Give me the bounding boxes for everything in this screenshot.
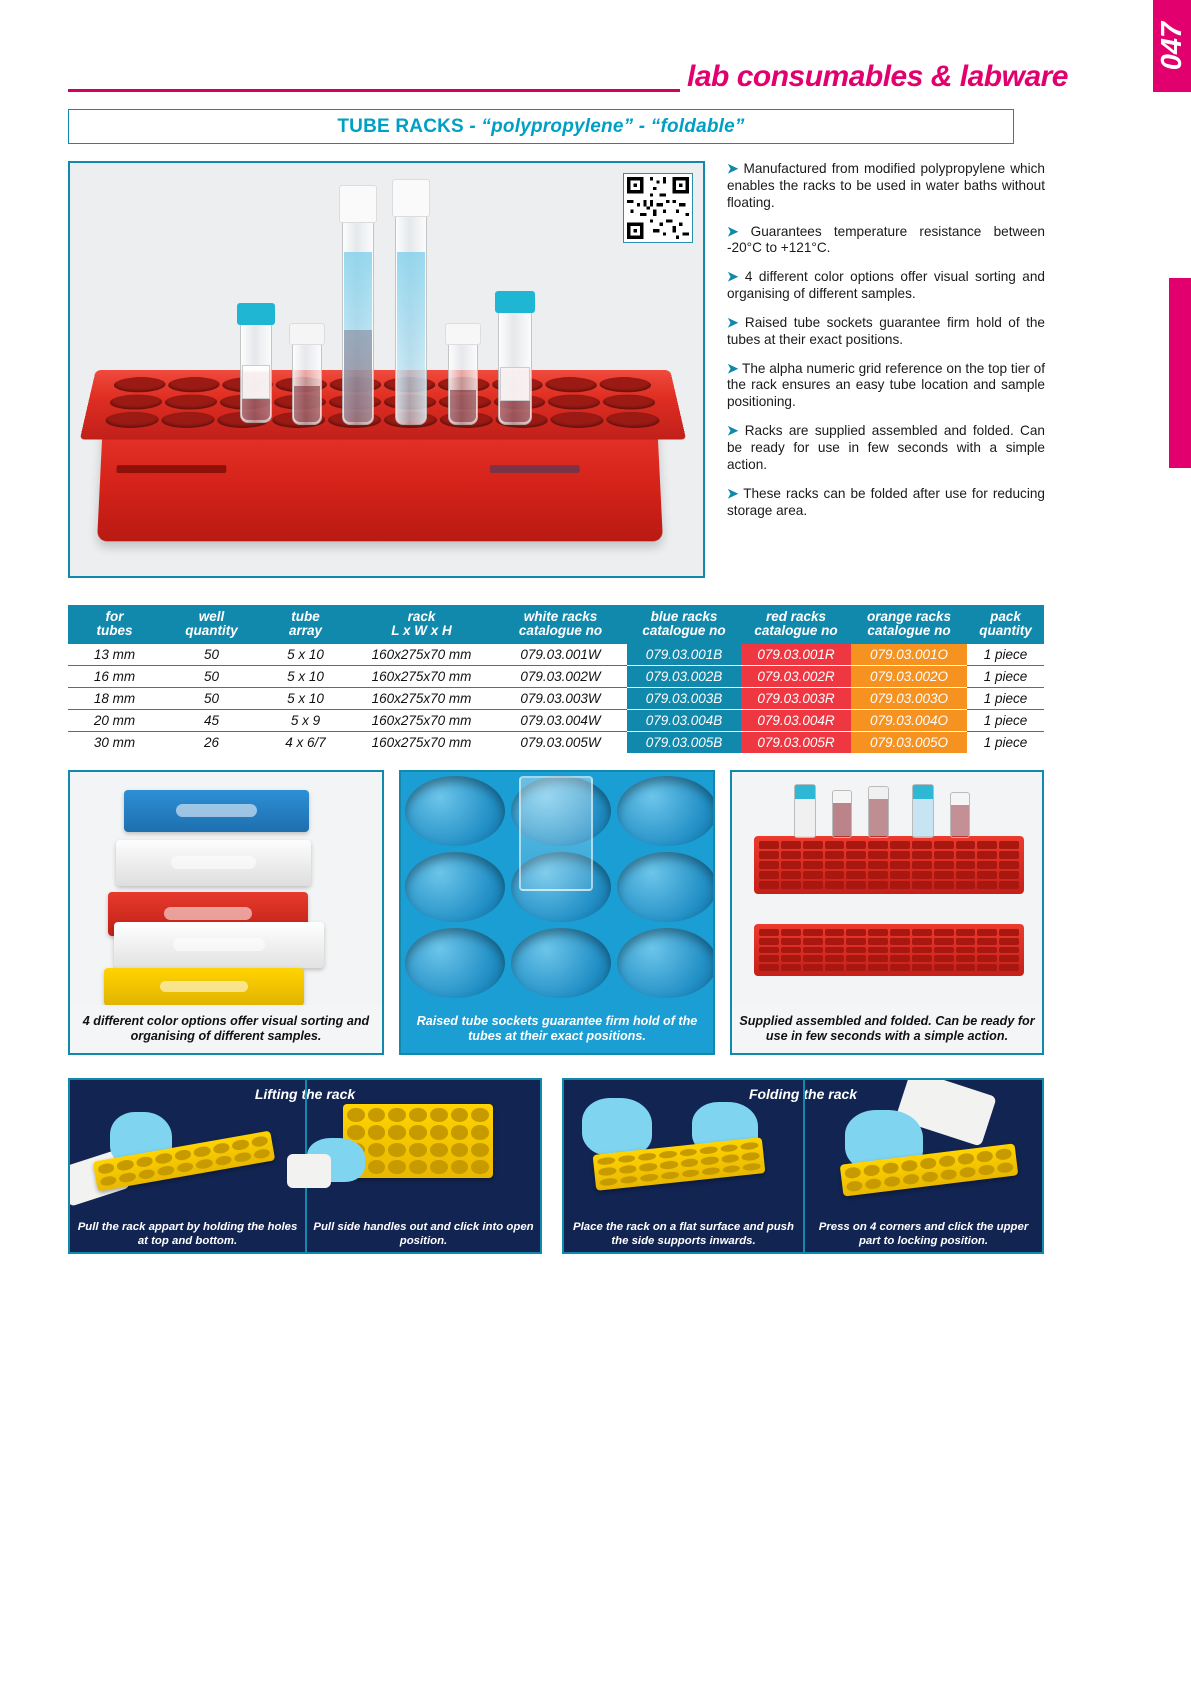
col-header-white-racks: white rackscatalogue no [494,605,627,644]
col-header-blue-racks: blue rackscatalogue no [627,605,741,644]
instruction-step-caption: Press on 4 corners and click the upper p… [809,1221,1038,1248]
cell-orange-catalogue-no: 079.03.005O [851,732,967,754]
arrow-icon: ➤ [727,161,738,176]
feature-panel-color-options: 4 different color options offer visual s… [68,770,384,1055]
cell-well-quantity: 26 [161,732,262,754]
instruction-step-caption: Pull the rack appart by holding the hole… [74,1221,301,1248]
gloved-hand-icon [582,1098,652,1156]
instruction-step: Press on 4 corners and click the upper p… [803,1080,1042,1252]
cell-blue-catalogue-no: 079.03.003B [627,688,741,710]
cell-tube-array: 5 x 10 [262,666,349,688]
cell-tube-array: 5 x 10 [262,688,349,710]
cell-blue-catalogue-no: 079.03.002B [627,666,741,688]
feature-panel-caption: 4 different color options offer visual s… [70,1005,382,1053]
cell-pack-quantity: 1 piece [967,710,1044,732]
cell-orange-catalogue-no: 079.03.002O [851,666,967,688]
bullet-item: ➤ Guarantees temperature resistance betw… [727,224,1045,258]
cell-rack-dimensions: 160x275x70 mm [349,732,494,754]
rack-well-grid [759,929,1019,971]
col-header-well-quantity: wellquantity [161,605,262,644]
cell-rack-dimensions: 160x275x70 mm [349,644,494,666]
col-header-rack-dimensions: rackL x W x H [349,605,494,644]
cell-blue-catalogue-no: 079.03.004B [627,710,741,732]
main-product-image [68,161,705,578]
bullet-item: ➤ Racks are supplied assembled and folde… [727,423,1045,474]
cell-rack-dimensions: 160x275x70 mm [349,688,494,710]
product-title-main: TUBE RACKS [337,116,464,137]
page-number: 047 [1153,0,1191,92]
page-number-tab: 047 [1153,0,1191,92]
arrow-icon: ➤ [727,224,738,239]
tube-specimen [292,343,322,425]
cell-pack-quantity: 1 piece [967,666,1044,688]
cell-for-tubes: 20 mm [68,710,161,732]
rack-base [97,422,663,541]
stacked-rack-white [116,840,311,886]
instruction-step-caption: Pull side handles out and click into ope… [311,1221,536,1248]
cell-for-tubes: 30 mm [68,732,161,754]
red-rack-folded [754,924,1024,976]
cell-pack-quantity: 1 piece [967,732,1044,754]
instruction-panel-row: Lifting the rack Pull the rack appart by… [68,1078,1044,1254]
feature-panel-caption: Supplied assembled and folded. Can be re… [732,1005,1042,1053]
catalogue-table: fortubes wellquantity tubearray rackL x … [68,605,1044,753]
stacked-rack-blue [124,790,309,832]
feature-panel-caption: Raised tube sockets guarantee firm hold … [401,1005,713,1053]
cell-white-catalogue-no: 079.03.003W [494,688,627,710]
arrow-icon: ➤ [727,361,738,376]
cell-orange-catalogue-no: 079.03.003O [851,688,967,710]
table-row: 16 mm 50 5 x 10 160x275x70 mm 079.03.002… [68,666,1044,688]
arrow-icon: ➤ [727,423,738,438]
table-header-row: fortubes wellquantity tubearray rackL x … [68,605,1044,644]
cell-orange-catalogue-no: 079.03.001O [851,644,967,666]
cell-red-catalogue-no: 079.03.003R [741,688,851,710]
feature-bullet-list: ➤ Manufactured from modified polypropyle… [727,161,1045,531]
table-row: 30 mm 26 4 x 6/7 160x275x70 mm 079.03.00… [68,732,1044,754]
bullet-text: These racks can be folded after use for … [727,486,1045,518]
cell-well-quantity: 45 [161,710,262,732]
cell-red-catalogue-no: 079.03.005R [741,732,851,754]
table-row: 13 mm 50 5 x 10 160x275x70 mm 079.03.001… [68,644,1044,666]
cell-tube-array: 5 x 10 [262,644,349,666]
cell-red-catalogue-no: 079.03.004R [741,710,851,732]
tube-specimen [448,343,478,425]
cell-red-catalogue-no: 079.03.002R [741,666,851,688]
arrow-icon: ➤ [727,269,738,284]
table-row: 18 mm 50 5 x 10 160x275x70 mm 079.03.003… [68,688,1044,710]
tubes-in-rack [788,784,988,840]
bullet-item: ➤ Manufactured from modified polypropyle… [727,161,1045,212]
cell-blue-catalogue-no: 079.03.001B [627,644,741,666]
cell-orange-catalogue-no: 079.03.004O [851,710,967,732]
cell-well-quantity: 50 [161,644,262,666]
rack-tube-holes [104,377,661,428]
bullet-item: ➤ These racks can be folded after use fo… [727,486,1045,520]
arrow-icon: ➤ [727,315,738,330]
tube-specimen [240,323,272,423]
cell-blue-catalogue-no: 079.03.005B [627,732,741,754]
bullet-text: Racks are supplied assembled and folded.… [727,423,1045,472]
cell-tube-array: 5 x 9 [262,710,349,732]
section-title: lab consumables & labware [687,60,1068,94]
red-rack-assembled [754,836,1024,894]
cell-for-tubes: 13 mm [68,644,161,666]
cell-well-quantity: 50 [161,688,262,710]
cell-pack-quantity: 1 piece [967,688,1044,710]
red-tube-rack-illustration [70,163,703,576]
stacked-rack-white-2 [114,922,324,968]
header-rule [68,89,680,92]
qr-code-icon [623,173,693,243]
cell-white-catalogue-no: 079.03.001W [494,644,627,666]
feature-panel-row: 4 different color options offer visual s… [68,770,1044,1055]
bullet-item: ➤ Raised tube sockets guarantee firm hol… [727,315,1045,349]
product-title-box: TUBE RACKS - “polypropylene” - “foldable… [68,109,1014,144]
cell-white-catalogue-no: 079.03.004W [494,710,627,732]
page-title: TUBE RACKS - “polypropylene” - “foldable… [337,116,744,138]
instruction-group-lifting: Lifting the rack Pull the rack appart by… [68,1078,542,1254]
tube-specimen [498,311,532,425]
section-side-tab [1169,278,1191,468]
arrow-icon: ➤ [727,486,738,501]
bullet-text: Guarantees temperature resistance betwee… [727,224,1045,256]
page-header: lab consumables & labware [68,60,1068,104]
col-header-tube-array: tubearray [262,605,349,644]
col-header-red-racks: red rackscatalogue no [741,605,851,644]
table-row: 20 mm 45 5 x 9 160x275x70 mm 079.03.004W… [68,710,1044,732]
cell-rack-dimensions: 160x275x70 mm [349,666,494,688]
bullet-item: ➤ 4 different color options offer visual… [727,269,1045,303]
instruction-group-folding: Folding the rack Place the rack on a fla… [562,1078,1044,1254]
cell-red-catalogue-no: 079.03.001R [741,644,851,666]
col-header-for-tubes: fortubes [68,605,161,644]
rack-well-grid [759,841,1019,889]
tube-in-well [519,776,593,891]
cell-for-tubes: 16 mm [68,666,161,688]
instruction-step: Pull the rack appart by holding the hole… [70,1080,305,1252]
product-title-sub: - “polypropylene” - “foldable” [469,116,744,137]
col-header-pack-quantity: packquantity [967,605,1044,644]
bullet-text: Manufactured from modified polypropylene… [727,161,1045,210]
feature-panel-assembled-folded: Supplied assembled and folded. Can be re… [730,770,1044,1055]
instruction-step: Place the rack on a flat surface and pus… [564,1080,803,1252]
feature-panel-raised-sockets: Raised tube sockets guarantee firm hold … [399,770,715,1055]
lab-coat-sleeve [287,1154,331,1188]
yellow-rack-open [343,1104,493,1178]
bullet-text: Raised tube sockets guarantee firm hold … [727,315,1045,347]
tube-specimen [395,215,427,425]
col-header-orange-racks: orange rackscatalogue no [851,605,967,644]
tube-specimen [342,221,374,425]
instruction-step: Pull side handles out and click into ope… [305,1080,540,1252]
bullet-item: ➤ The alpha numeric grid reference on th… [727,361,1045,412]
cell-white-catalogue-no: 079.03.002W [494,666,627,688]
bullet-text: 4 different color options offer visual s… [727,269,1045,301]
bullet-text: The alpha numeric grid reference on the … [727,361,1045,410]
cell-white-catalogue-no: 079.03.005W [494,732,627,754]
cell-for-tubes: 18 mm [68,688,161,710]
cell-tube-array: 4 x 6/7 [262,732,349,754]
cell-rack-dimensions: 160x275x70 mm [349,710,494,732]
stacked-rack-yellow [104,968,304,1006]
cell-pack-quantity: 1 piece [967,644,1044,666]
cell-well-quantity: 50 [161,666,262,688]
instruction-step-caption: Place the rack on a flat surface and pus… [568,1221,799,1248]
